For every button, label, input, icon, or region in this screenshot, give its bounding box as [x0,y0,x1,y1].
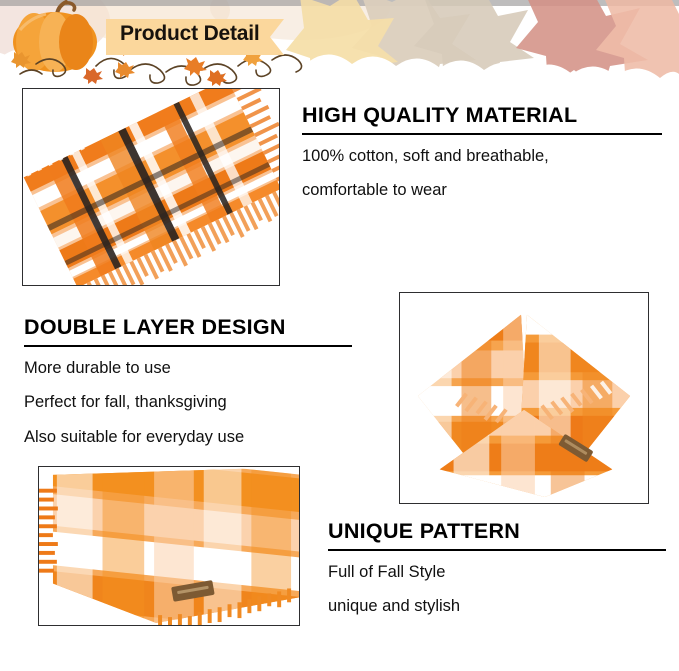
section-body: More durable to use Perfect for fall, th… [24,360,354,446]
scarf-closeup-photo [22,88,280,286]
heading-underline [24,345,352,347]
section-high-quality-material: HIGH QUALITY MATERIAL 100% cotton, soft … [302,104,664,199]
section-unique-pattern: UNIQUE PATTERN Full of Fall Style unique… [328,520,668,615]
section-body: 100% cotton, soft and breathable, comfor… [302,148,664,199]
body-line: More durable to use [24,360,354,377]
section-heading: DOUBLE LAYER DESIGN [24,316,354,340]
scarf-folded-image [400,293,648,503]
section-double-layer-design: DOUBLE LAYER DESIGN More durable to use … [24,316,354,445]
section-heading: HIGH QUALITY MATERIAL [302,104,664,128]
body-line: 100% cotton, soft and breathable, [302,148,664,165]
autumn-decoration-graphic [0,0,679,92]
header-banner: Product Detail [0,0,679,92]
scarf-folded-photo [399,292,649,504]
section-body: Full of Fall Style unique and stylish [328,564,668,615]
heading-underline [328,549,666,551]
body-line: Also suitable for everyday use [24,429,354,446]
scarf-flatlay-photo [38,466,300,626]
scarf-closeup-image [23,89,279,285]
body-line: Full of Fall Style [328,564,668,581]
body-line: comfortable to wear [302,182,664,199]
section-heading: UNIQUE PATTERN [328,520,668,544]
banner-title: Product Detail [120,22,260,46]
body-line: unique and stylish [328,598,668,615]
scarf-flatlay-image [39,467,299,625]
body-line: Perfect for fall, thanksgiving [24,394,354,411]
heading-underline [302,133,662,135]
